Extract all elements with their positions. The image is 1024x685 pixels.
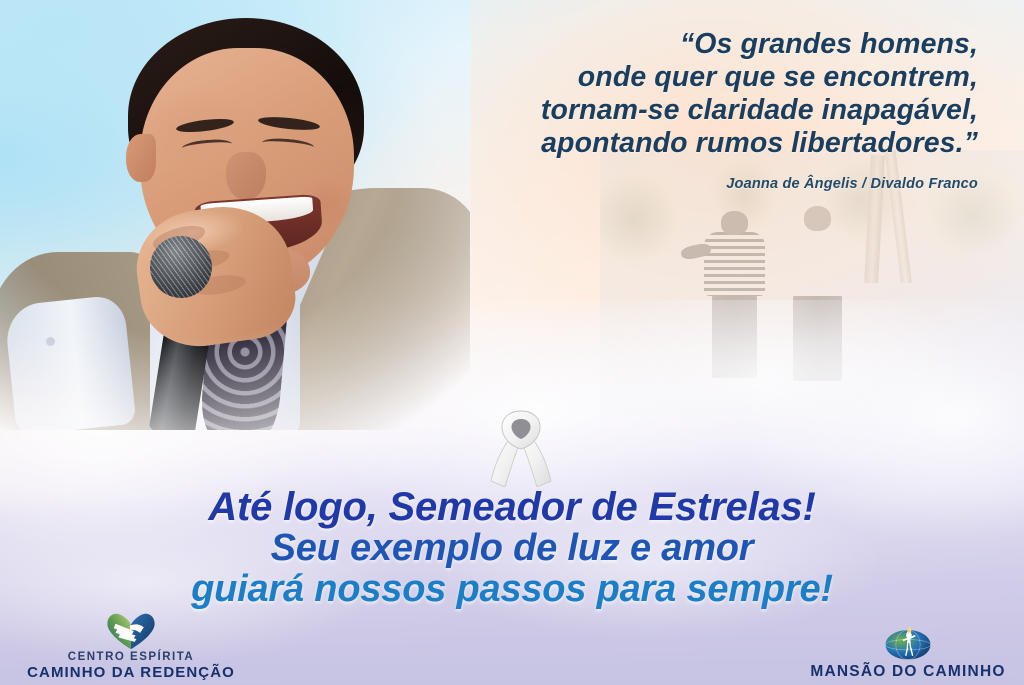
- quote-line-2: onde quer que se encontrem,: [438, 61, 978, 94]
- headline-line-3: guiará nossos passos para sempre!: [0, 569, 1024, 610]
- logo-left-line-2: CAMINHO DA REDENÇÃO: [8, 664, 254, 681]
- shirt-cuff: [4, 294, 137, 436]
- quote-block: “Os grandes homens, onde quer que se enc…: [438, 28, 978, 192]
- quote-line-1: “Os grandes homens,: [438, 28, 978, 61]
- quote-line-3: tornam-se claridade inapagável,: [438, 94, 978, 127]
- mourning-ribbon-icon: [489, 409, 553, 487]
- heart-hands-icon: [103, 611, 159, 651]
- globe-figure-flame-icon: [882, 623, 934, 663]
- headline-line-2: Seu exemplo de luz e amor: [0, 528, 1024, 569]
- logo-centro-espirita: CENTRO ESPÍRITA CAMINHO DA REDENÇÃO: [8, 609, 254, 681]
- logo-left-line-1: CENTRO ESPÍRITA: [8, 651, 254, 664]
- mourning-ribbon: [489, 409, 553, 487]
- portrait-photo: [0, 0, 470, 430]
- quote-attribution: Joanna de Ângelis / Divaldo Franco: [438, 176, 978, 192]
- headline-block: Até logo, Semeador de Estrelas! Seu exem…: [0, 486, 1024, 610]
- walking-man-striped: [721, 211, 748, 235]
- ear: [126, 134, 156, 182]
- headline-line-1: Até logo, Semeador de Estrelas!: [0, 486, 1024, 528]
- nose: [226, 152, 266, 200]
- logo-right-line-1: MANSÃO DO CAMINHO: [800, 663, 1016, 681]
- logo-mansao-do-caminho: MANSÃO DO CAMINHO: [800, 621, 1016, 681]
- quote-line-4: apontando rumos libertadores.”: [438, 127, 978, 160]
- walking-man-white-shirt: [804, 206, 832, 231]
- memorial-poster: “Os grandes homens, onde quer que se enc…: [0, 0, 1024, 685]
